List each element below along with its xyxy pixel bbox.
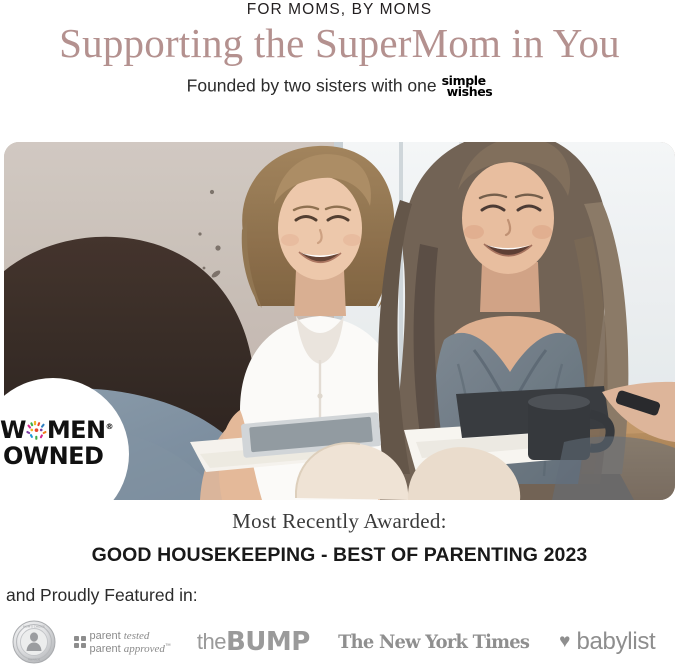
ptpa-line2: parent approved™ <box>90 643 171 655</box>
moms-choice-awards-seal-icon: MOM'S CHOICE AWARDS <box>12 620 56 664</box>
ptpa-grid-icon <box>74 636 86 648</box>
babylist-text: babylist <box>576 628 655 656</box>
women-owned-w: W <box>0 416 26 444</box>
simple-wishes-logo: simplewishes <box>442 75 493 98</box>
page-title: Supporting the SuperMom in You <box>0 20 679 67</box>
svg-text:MOM'S CHOICE: MOM'S CHOICE <box>23 624 45 628</box>
ptpa-parent-2: parent <box>90 643 124 655</box>
registered-trademark-icon: ® <box>105 422 113 431</box>
featured-in-label: and Proudly Featured in: <box>6 584 198 606</box>
babylist-logo: ♥babylist <box>559 619 655 665</box>
ptpa-tm: ™ <box>165 644 171 650</box>
the-bump-bump: BUMP <box>226 627 310 657</box>
ptpa-approved: approved <box>124 643 165 655</box>
parent-tested-parent-approved-logo: parent tested parent approved™ <box>74 619 171 665</box>
the-bump-logo: the BUMP <box>197 619 310 665</box>
subheadline-text: Founded by two sisters with one <box>187 76 437 96</box>
ptpa-line1: parent tested <box>90 630 150 642</box>
ptpa-text: parent tested parent approved™ <box>90 629 171 656</box>
subheadline: Founded by two sisters with onesimplewis… <box>0 74 679 97</box>
women-owned-men: MEN <box>47 416 106 444</box>
award-title: GOOD HOUSEKEEPING - BEST OF PARENTING 20… <box>0 543 679 567</box>
new-york-times-logo: The New York Times <box>338 619 529 665</box>
moms-choice-awards-seal: MOM'S CHOICE AWARDS <box>4 619 56 665</box>
featured-logos-row: MOM'S CHOICE AWARDS parent tested parent… <box>4 617 676 667</box>
confetti-icon <box>26 420 47 441</box>
promo-banner: FOR MOMS, BY MOMS Supporting the SuperMo… <box>0 0 679 669</box>
heart-icon: ♥ <box>559 633 570 651</box>
women-owned-badge-content: W MEN® OWNED <box>0 414 120 470</box>
women-owned-line1: W MEN® <box>0 414 120 443</box>
ptpa-parent-1: parent <box>90 630 124 642</box>
women-owned-line2: OWNED <box>0 443 120 470</box>
confetti-icon-svg <box>26 420 47 441</box>
simple-wishes-line2: wishes <box>442 86 493 98</box>
svg-text:AWARDS: AWARDS <box>28 658 41 662</box>
eyebrow-text: FOR MOMS, BY MOMS <box>0 1 679 19</box>
ptpa-tested: tested <box>124 630 150 642</box>
the-bump-the: the <box>197 629 226 655</box>
